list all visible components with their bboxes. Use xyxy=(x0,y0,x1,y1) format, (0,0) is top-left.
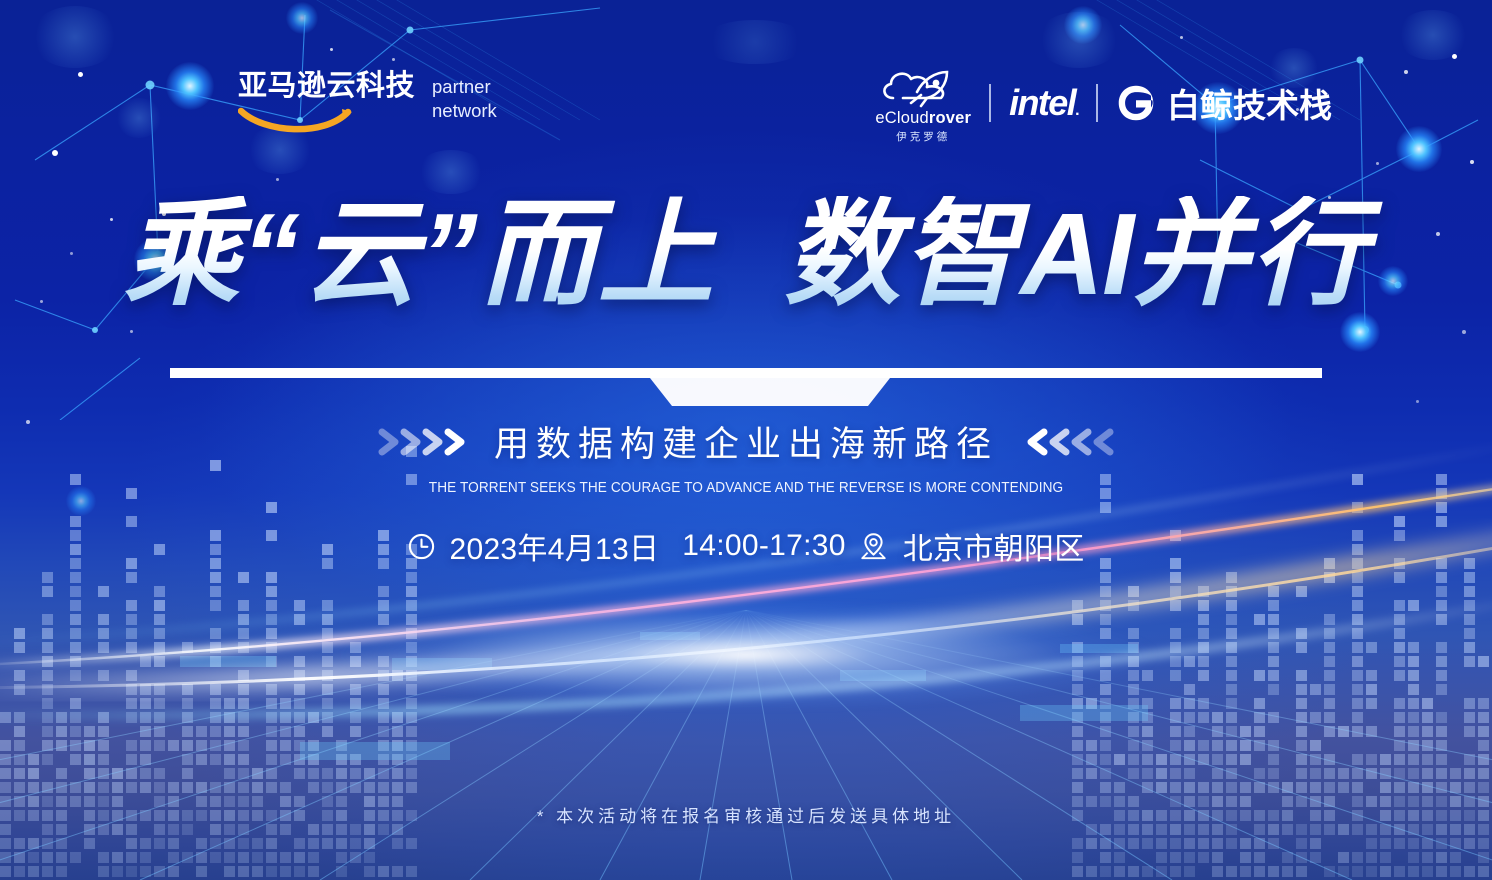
title-part-2: 数智 xyxy=(784,189,1020,319)
subtitle-cn: 用数据构建企业出海新路径 xyxy=(494,416,998,467)
aws-cn-label: 亚马逊云科技 xyxy=(238,72,415,101)
city-pixel xyxy=(210,586,221,597)
city-pixel xyxy=(1268,586,1279,597)
star xyxy=(130,330,133,333)
title-divider xyxy=(0,366,1492,414)
city-pixel xyxy=(70,586,81,597)
city-pixel xyxy=(266,572,277,583)
city-pixel xyxy=(126,572,137,583)
intel-dot: . xyxy=(1075,102,1078,119)
star xyxy=(1462,330,1466,334)
city-pixel xyxy=(266,586,277,597)
city-pixel xyxy=(42,586,53,597)
ecloudrover-wordmark: eCloudrover xyxy=(875,109,971,128)
page-title: 乘“云”而上 数智AI并行 xyxy=(0,196,1492,312)
cloud-rocket-icon xyxy=(877,62,969,108)
subtitle-en: THE TORRENT SEEKS THE COURAGE TO ADVANCE… xyxy=(45,480,1447,496)
city-pixel xyxy=(1394,572,1405,583)
subtitle-line: 用数据构建企业出海新路径 xyxy=(0,416,1492,467)
title-part-1: 乘“云”而上 xyxy=(124,189,716,319)
partner-line: partner xyxy=(432,75,497,99)
baijing-logo[interactable]: 白鲸技术栈 xyxy=(1116,79,1332,127)
city-pixel xyxy=(238,572,249,583)
network-line: network xyxy=(432,99,497,123)
ecloudrover-word-a: eCloud xyxy=(875,109,929,127)
city-pixel xyxy=(1100,502,1111,513)
city-pixel xyxy=(1464,572,1475,583)
city-pixel xyxy=(210,572,221,583)
clock-icon xyxy=(407,532,436,561)
city-pixel xyxy=(154,586,165,597)
center-glow xyxy=(336,600,1156,710)
subtitle-block: 用数据构建企业出海新路径 THE TORRENT SEEKS THE COURA… xyxy=(0,416,1492,496)
city-pixel xyxy=(378,586,389,597)
baijing-g-icon xyxy=(1116,83,1156,123)
ecloudrover-word-b: rover xyxy=(929,109,971,127)
amazon-smile-icon xyxy=(238,107,356,133)
star xyxy=(276,178,279,181)
aws-cn-wordmark: 亚马逊云科技 xyxy=(238,72,415,133)
city-pixel xyxy=(1352,586,1363,597)
title-part-ai: AI xyxy=(1020,189,1132,319)
aws-logo[interactable]: 亚马逊云科技 partner network xyxy=(238,72,497,133)
city-pixel xyxy=(1100,586,1111,597)
ecloudrover-cn-label: 伊克罗德 xyxy=(896,129,950,144)
city-pixel xyxy=(1436,502,1447,513)
city-pixel xyxy=(1436,586,1447,597)
city-pixel xyxy=(406,586,417,597)
city-pixel xyxy=(266,502,277,513)
city-pixel xyxy=(1100,572,1111,583)
city-pixel xyxy=(70,572,81,583)
logo-separator xyxy=(989,84,991,122)
city-pixel xyxy=(1170,572,1181,583)
city-pixel xyxy=(1324,572,1335,583)
logo-separator xyxy=(1096,84,1098,122)
city-pixel xyxy=(1352,572,1363,583)
city-pixel xyxy=(1464,586,1475,597)
city-pixel xyxy=(1226,586,1237,597)
city-pixel xyxy=(1436,572,1447,583)
logo-row: 亚马逊云科技 partner network xyxy=(0,0,1492,170)
aws-partner-network-label: partner network xyxy=(432,72,497,122)
city-pixel xyxy=(1198,586,1209,597)
event-date: 2023年4月13日 xyxy=(449,524,659,568)
event-meta: 2023年4月13日 14:00-17:30 北京市朝阳区 xyxy=(0,524,1492,568)
footnote: * 本次活动将在报名审核通过后发送具体地址 xyxy=(0,802,1492,827)
event-location: 北京市朝阳区 xyxy=(903,524,1085,568)
partner-logos: eCloudrover 伊克罗德 intel. 白鲸技术栈 xyxy=(875,62,1332,144)
city-pixel xyxy=(1296,586,1307,597)
city-pixel xyxy=(1226,572,1237,583)
city-pixel xyxy=(1352,502,1363,513)
city-pixel xyxy=(1170,586,1181,597)
city-pixel xyxy=(42,572,53,583)
baijing-wordmark: 白鲸技术栈 xyxy=(1167,79,1332,127)
chevrons-right-icon xyxy=(376,425,472,459)
chevrons-left-icon xyxy=(1020,425,1116,459)
intel-logo[interactable]: intel. xyxy=(1009,82,1078,124)
city-pixel xyxy=(406,572,417,583)
intel-wordmark: intel xyxy=(1009,82,1075,123)
event-time: 14:00-17:30 xyxy=(682,529,845,563)
location-pin-icon xyxy=(859,531,888,561)
title-part-4: 并行 xyxy=(1132,189,1368,319)
ecloudrover-logo[interactable]: eCloudrover 伊克罗德 xyxy=(875,62,971,144)
city-pixel xyxy=(1128,586,1139,597)
event-banner: 亚马逊云科技 partner network xyxy=(0,0,1492,880)
city-pixel xyxy=(98,586,109,597)
